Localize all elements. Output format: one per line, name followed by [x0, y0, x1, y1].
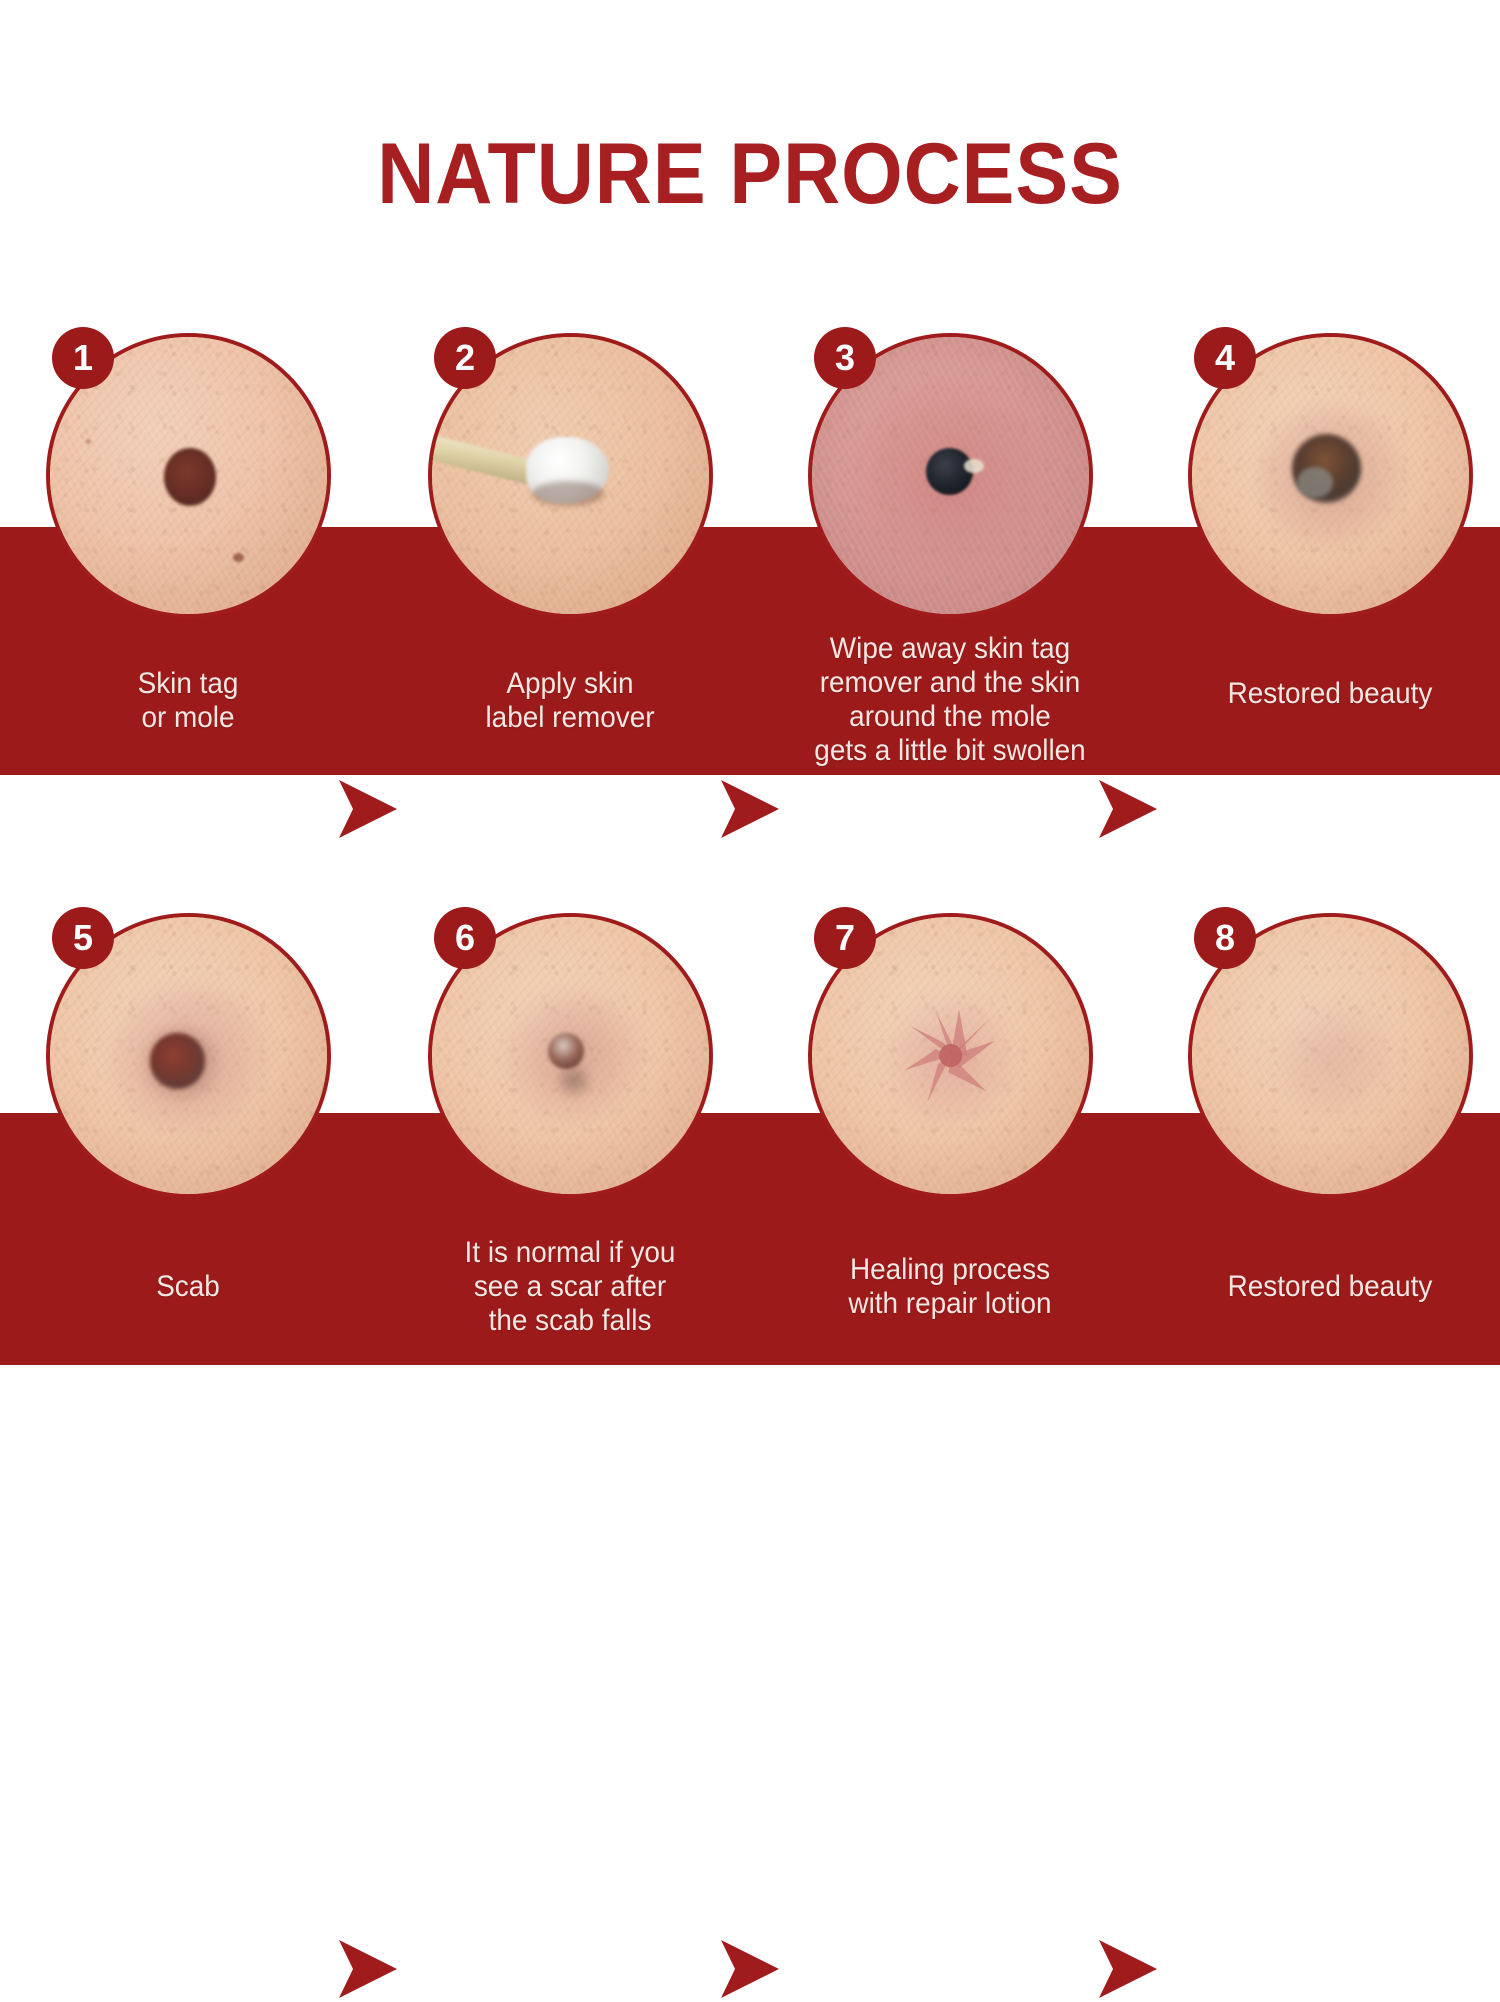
chevron-right-icon — [1096, 1936, 1160, 2002]
arrow-5 — [718, 1936, 782, 2002]
arrow-4 — [336, 1936, 400, 2002]
page-title: NATURE PROCESS — [60, 131, 1440, 217]
chevron-right-icon — [336, 1936, 400, 2002]
step-1-caption: Skin tag or mole — [35, 667, 342, 735]
step-3[interactable]: 3 — [808, 333, 1093, 618]
mole-highlight — [964, 459, 983, 473]
step-6[interactable]: 6 — [428, 913, 713, 1198]
steps-row-2: 5 6 — [0, 913, 1500, 914]
freckle-tiny — [86, 439, 91, 443]
step-5-badge: 5 — [52, 907, 114, 969]
step-1-badge: 1 — [52, 327, 114, 389]
step-4-caption: Restored beauty — [1177, 677, 1484, 711]
chevron-right-icon — [718, 776, 782, 842]
step-4[interactable]: 4 — [1188, 333, 1473, 618]
cream-shadow — [532, 481, 604, 506]
step-8-badge: 8 — [1194, 907, 1256, 969]
infographic-root: NATURE PROCESS 1 — [0, 0, 1500, 1500]
arrow-6 — [1096, 1936, 1160, 2002]
step-2[interactable]: 2 — [428, 333, 713, 618]
arrow-1 — [336, 776, 400, 842]
step-7[interactable]: 7 — [808, 913, 1093, 1198]
step-3-badge: 3 — [814, 327, 876, 389]
step-7-caption: Healing process with repair lotion — [797, 1253, 1104, 1321]
step-1[interactable]: 1 — [46, 333, 331, 618]
scab-grey-patch — [1297, 467, 1333, 497]
chevron-right-icon — [718, 1936, 782, 2002]
step-8[interactable]: 8 — [1188, 913, 1473, 1198]
steps-row-1: 1 2 — [0, 333, 1500, 334]
step-4-badge: 4 — [1194, 327, 1256, 389]
starburst-scar — [898, 1003, 1003, 1108]
chevron-right-icon — [336, 776, 400, 842]
arrow-2 — [718, 776, 782, 842]
mole-lesion — [164, 448, 217, 506]
step-3-caption: Wipe away skin tag remover and the skin … — [797, 632, 1104, 768]
scar-shadow — [554, 1061, 593, 1100]
arrow-3 — [1096, 776, 1160, 842]
step-2-caption: Apply skin label remover — [417, 667, 724, 735]
faint-mark — [1275, 1000, 1391, 1116]
step-6-badge: 6 — [434, 907, 496, 969]
step-5-caption: Scab — [35, 1270, 342, 1304]
step-5[interactable]: 5 — [46, 913, 331, 1198]
darkened-mole — [926, 448, 973, 495]
step-6-caption: It is normal if you see a scar after the… — [417, 1236, 724, 1338]
step-8-caption: Restored beauty — [1177, 1270, 1484, 1304]
step-7-badge: 7 — [814, 907, 876, 969]
step-2-badge: 2 — [434, 327, 496, 389]
chevron-right-icon — [1096, 776, 1160, 842]
